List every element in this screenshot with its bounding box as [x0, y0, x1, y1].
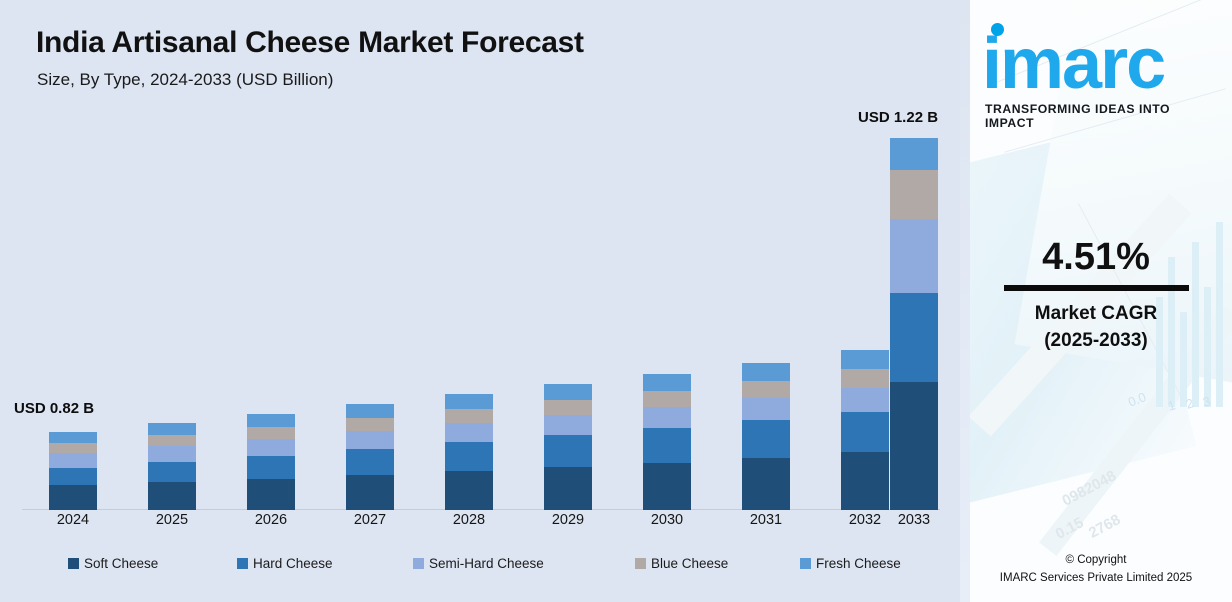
bar-segment — [247, 456, 295, 479]
last-value-annotation: USD 1.22 B — [858, 109, 938, 126]
legend-item-semi-hard-cheese[interactable]: Semi-Hard Cheese — [413, 556, 544, 571]
bar-segment — [445, 442, 493, 471]
chart-legend: Soft CheeseHard CheeseSemi-Hard CheeseBl… — [0, 550, 960, 576]
bar-segment — [890, 219, 938, 293]
cagr-block: 4.51% Market CAGR (2025-2033) — [960, 238, 1232, 355]
legend-item-blue-cheese[interactable]: Blue Cheese — [635, 556, 728, 571]
bar-group-2025 — [148, 423, 196, 510]
copyright-line-1: © Copyright — [960, 552, 1232, 570]
bar-segment — [742, 381, 790, 398]
cagr-value: 4.51% — [960, 238, 1232, 278]
legend-item-soft-cheese[interactable]: Soft Cheese — [68, 556, 158, 571]
bar-group-2031 — [742, 363, 790, 510]
bar-segment — [841, 412, 889, 452]
bar-segment — [247, 439, 295, 456]
bar-group-2030 — [643, 374, 691, 510]
x-tick-label: 2033 — [890, 512, 938, 528]
legend-label: Soft Cheese — [84, 556, 158, 571]
logo-wordmark: imarc — [982, 28, 1212, 100]
legend-label: Hard Cheese — [253, 556, 333, 571]
bar-segment — [49, 432, 97, 443]
x-axis-tick-labels: 2024202520262027202820292030203120322033 — [0, 512, 960, 536]
bar-segment — [148, 423, 196, 435]
legend-item-hard-cheese[interactable]: Hard Cheese — [237, 556, 333, 571]
bar-segment — [742, 420, 790, 458]
bar-segment — [841, 388, 889, 412]
x-tick-label: 2032 — [841, 512, 889, 528]
bar-series-container — [0, 102, 960, 510]
bar-segment — [445, 409, 493, 423]
bar-segment — [148, 446, 196, 462]
figure-root: India Artisanal Cheese Market Forecast S… — [0, 0, 1232, 602]
bar-segment — [148, 482, 196, 510]
bar-segment — [445, 423, 493, 442]
bar-segment — [742, 458, 790, 510]
bar-segment — [346, 449, 394, 475]
bar-segment — [247, 414, 295, 427]
bar-segment — [346, 418, 394, 431]
bar-group-2032 — [841, 350, 889, 510]
bar-segment — [247, 427, 295, 439]
chart-subtitle: Size, By Type, 2024-2033 (USD Billion) — [37, 70, 333, 90]
legend-label: Blue Cheese — [651, 556, 728, 571]
plot-area — [0, 100, 960, 510]
x-tick-label: 2024 — [49, 512, 97, 528]
bar-group-2028 — [445, 394, 493, 510]
x-tick-label: 2031 — [742, 512, 790, 528]
imarc-logo: imarc TRANSFORMING IDEAS INTO IMPACT — [982, 14, 1212, 130]
cagr-label: Market CAGR — [960, 300, 1232, 328]
bar-segment — [742, 363, 790, 381]
bar-segment — [890, 293, 938, 382]
bar-segment — [346, 475, 394, 510]
copyright-line-2: IMARC Services Private Limited 2025 — [960, 570, 1232, 588]
chart-panel: India Artisanal Cheese Market Forecast S… — [0, 0, 960, 602]
legend-swatch-icon — [68, 558, 79, 569]
bar-segment — [346, 404, 394, 418]
legend-swatch-icon — [413, 558, 424, 569]
legend-swatch-icon — [635, 558, 646, 569]
x-tick-label: 2026 — [247, 512, 295, 528]
bar-segment — [890, 138, 938, 170]
bar-segment — [841, 452, 889, 510]
bar-group-2024 — [49, 432, 97, 510]
page-title: India Artisanal Cheese Market Forecast — [36, 26, 584, 60]
bar-segment — [49, 453, 97, 468]
bar-segment — [49, 468, 97, 485]
bar-group-2027 — [346, 404, 394, 510]
legend-label: Semi-Hard Cheese — [429, 556, 544, 571]
legend-swatch-icon — [800, 558, 811, 569]
copyright-notice: © Copyright IMARC Services Private Limit… — [960, 552, 1232, 588]
bar-segment — [49, 485, 97, 510]
bar-segment — [643, 463, 691, 510]
legend-swatch-icon — [237, 558, 248, 569]
bar-segment — [544, 384, 592, 400]
x-tick-label: 2029 — [544, 512, 592, 528]
first-value-annotation: USD 0.82 B — [14, 400, 94, 417]
bar-segment — [49, 443, 97, 453]
bar-segment — [643, 391, 691, 407]
bar-group-2026 — [247, 414, 295, 510]
logo-dot-icon — [991, 23, 1004, 36]
bar-group-2033 — [890, 138, 938, 510]
bar-segment — [346, 431, 394, 449]
brand-panel: 0982048 2768 0.15 0.0 1 2 3 imarc TRANSF… — [960, 0, 1232, 602]
bar-segment — [544, 400, 592, 415]
bar-segment — [643, 407, 691, 428]
x-tick-label: 2030 — [643, 512, 691, 528]
bar-segment — [890, 170, 938, 219]
bar-segment — [841, 369, 889, 388]
bar-segment — [445, 471, 493, 510]
bar-segment — [148, 462, 196, 482]
bar-segment — [544, 435, 592, 467]
bar-segment — [742, 398, 790, 420]
bar-segment — [841, 350, 889, 369]
x-tick-label: 2028 — [445, 512, 493, 528]
cagr-period: (2025-2033) — [960, 327, 1232, 355]
logo-tagline: TRANSFORMING IDEAS INTO IMPACT — [985, 102, 1212, 130]
bar-segment — [890, 382, 938, 510]
legend-label: Fresh Cheese — [816, 556, 901, 571]
bar-segment — [247, 479, 295, 510]
bar-segment — [643, 374, 691, 391]
bar-group-2029 — [544, 384, 592, 510]
x-tick-label: 2027 — [346, 512, 394, 528]
bar-segment — [445, 394, 493, 409]
bar-segment — [643, 428, 691, 463]
bar-segment — [148, 435, 196, 446]
bar-segment — [544, 415, 592, 435]
legend-item-fresh-cheese[interactable]: Fresh Cheese — [800, 556, 901, 571]
x-tick-label: 2025 — [148, 512, 196, 528]
bar-segment — [544, 467, 592, 510]
cagr-divider — [1004, 285, 1189, 291]
